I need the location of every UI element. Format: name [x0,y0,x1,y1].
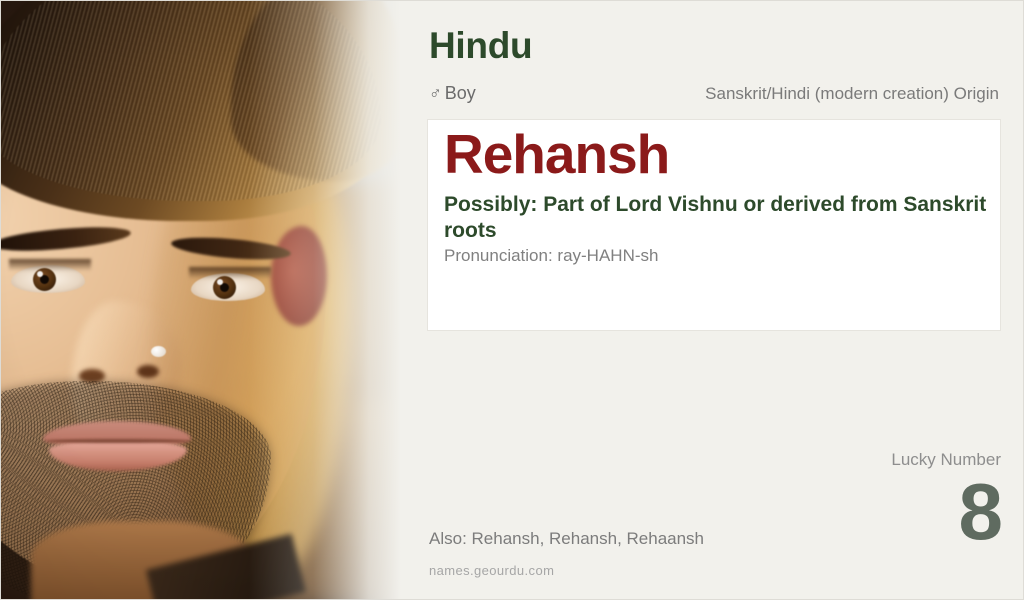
portrait-photo [1,1,401,600]
male-symbol-icon: ♂ [429,84,442,103]
site-watermark: names.geourdu.com [429,563,554,578]
gender-text: Boy [445,83,476,103]
lucky-number-block: Lucky Number 8 [761,451,1001,550]
gender-label: ♂Boy [429,83,476,104]
name-meaning: Possibly: Part of Lord Vishnu or derived… [444,192,992,245]
meta-row: ♂Boy Sanskrit/Hindi (modern creation) Or… [429,83,999,107]
name-title: Rehansh [444,126,669,184]
name-pronunciation: Pronunciation: ray-HAHN-sh [444,246,658,266]
lucky-number-value: 8 [761,474,1001,550]
lucky-number-label: Lucky Number [761,451,1001,468]
portrait-photo-pane [1,1,401,600]
alternate-spellings: Also: Rehansh, Rehansh, Rehaansh [429,529,704,549]
info-pane: Hindu ♂Boy Sanskrit/Hindi (modern creati… [401,1,1024,600]
photo-right-fade [1,1,401,600]
name-detail-card: Rehansh Possibly: Part of Lord Vishnu or… [427,119,1001,331]
name-info-card: Hindu ♂Boy Sanskrit/Hindi (modern creati… [0,0,1024,600]
religion-title: Hindu [429,25,532,67]
origin-label: Sanskrit/Hindi (modern creation) Origin [705,84,999,104]
